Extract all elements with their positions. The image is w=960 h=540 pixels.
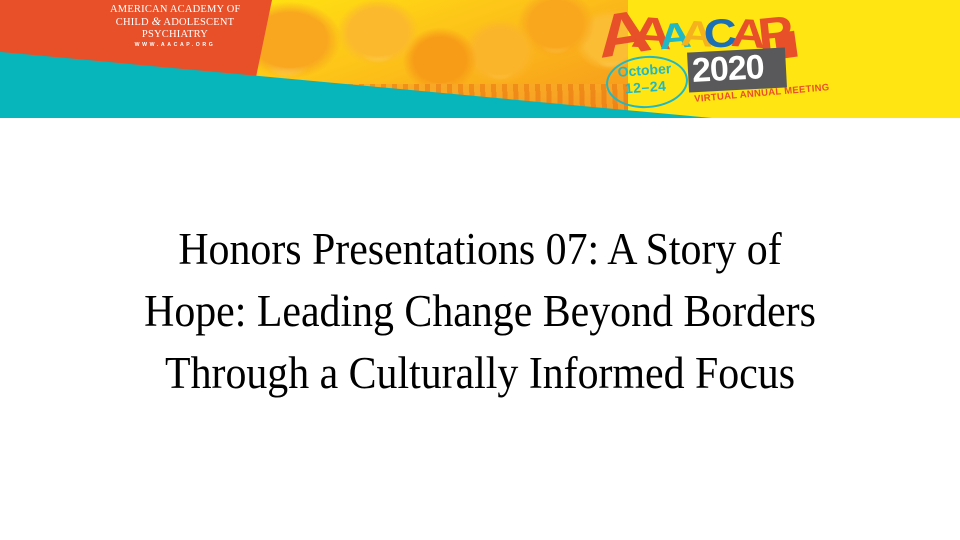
aacap-academy-logo: AMERICAN ACADEMY OF CHILD & ADOLESCENT P… — [110, 4, 240, 49]
presentation-slide: AMERICAN ACADEMY OF CHILD & ADOLESCENT P… — [0, 0, 960, 540]
meeting-date-range: 12–24 — [624, 77, 666, 96]
academy-logo-line1: AMERICAN ACADEMY OF — [110, 4, 240, 15]
academy-logo-line2: CHILD & ADOLESCENT — [110, 15, 240, 28]
academy-logo-url: WWW.AACAP.ORG — [110, 43, 240, 49]
aacap-2020-meeting-logo: A A A A C A P 2020 VIRTUAL ANNUAL MEETIN… — [600, 0, 800, 118]
academy-logo-line3: PSYCHIATRY — [110, 29, 240, 40]
academy-logo-line2-pre: CHILD — [116, 17, 152, 28]
slide-header-banner: AMERICAN ACADEMY OF CHILD & ADOLESCENT P… — [0, 0, 960, 118]
academy-logo-ampersand: & — [152, 14, 162, 28]
page-title-line-3: Through a Culturally Informed Focus — [34, 342, 927, 404]
meeting-year: 2020 — [691, 50, 764, 88]
page-title: Honors Presentations 07: A Story of Hope… — [0, 218, 960, 404]
page-title-line-2: Hope: Leading Change Beyond Borders — [34, 280, 927, 342]
meeting-date: October 12–24 — [605, 59, 685, 97]
page-title-line-1: Honors Presentations 07: A Story of — [34, 218, 927, 280]
academy-logo-line2-post: ADOLESCENT — [161, 17, 234, 28]
